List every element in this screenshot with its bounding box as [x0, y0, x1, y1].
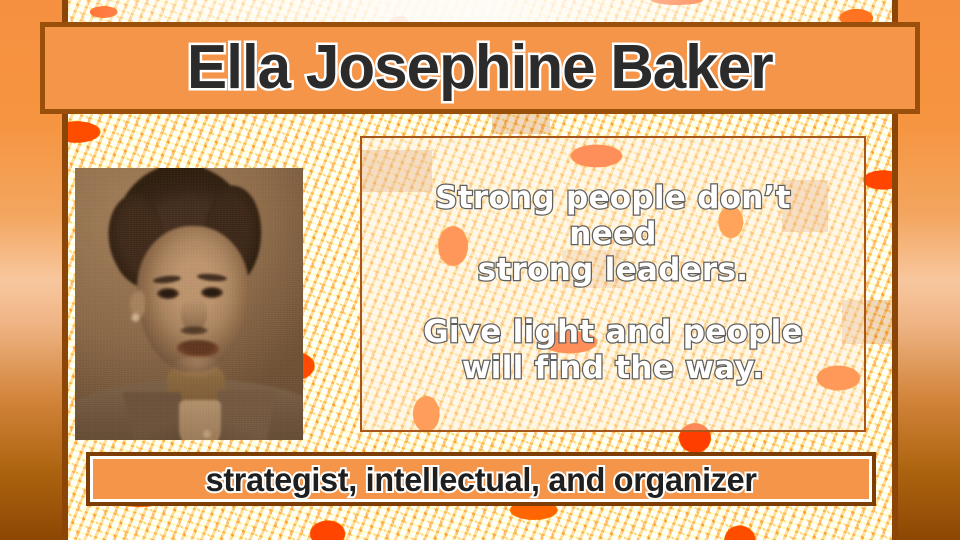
subtitle-text: strategist, intellectual, and organizer [205, 463, 756, 496]
quote-line-4: Give light and people [423, 315, 803, 351]
portrait-photo-ella-baker [75, 168, 303, 440]
quote-box: Strong people don’t need strong leaders.… [360, 136, 866, 432]
quote-line-1: Strong people don’t [435, 181, 791, 217]
page-title: Ella Josephine Baker [187, 37, 773, 99]
quote-line-3: strong leaders. [478, 253, 749, 289]
portrait-film-grain [75, 168, 303, 440]
quote-line-5: will find the way. [462, 351, 764, 387]
quote-line-2: need [569, 217, 657, 253]
slide-canvas: Ella Josephine Baker Strong people don’t… [0, 0, 960, 540]
subtitle-bar: strategist, intellectual, and organizer [86, 452, 876, 506]
title-banner: Ella Josephine Baker [40, 22, 920, 114]
